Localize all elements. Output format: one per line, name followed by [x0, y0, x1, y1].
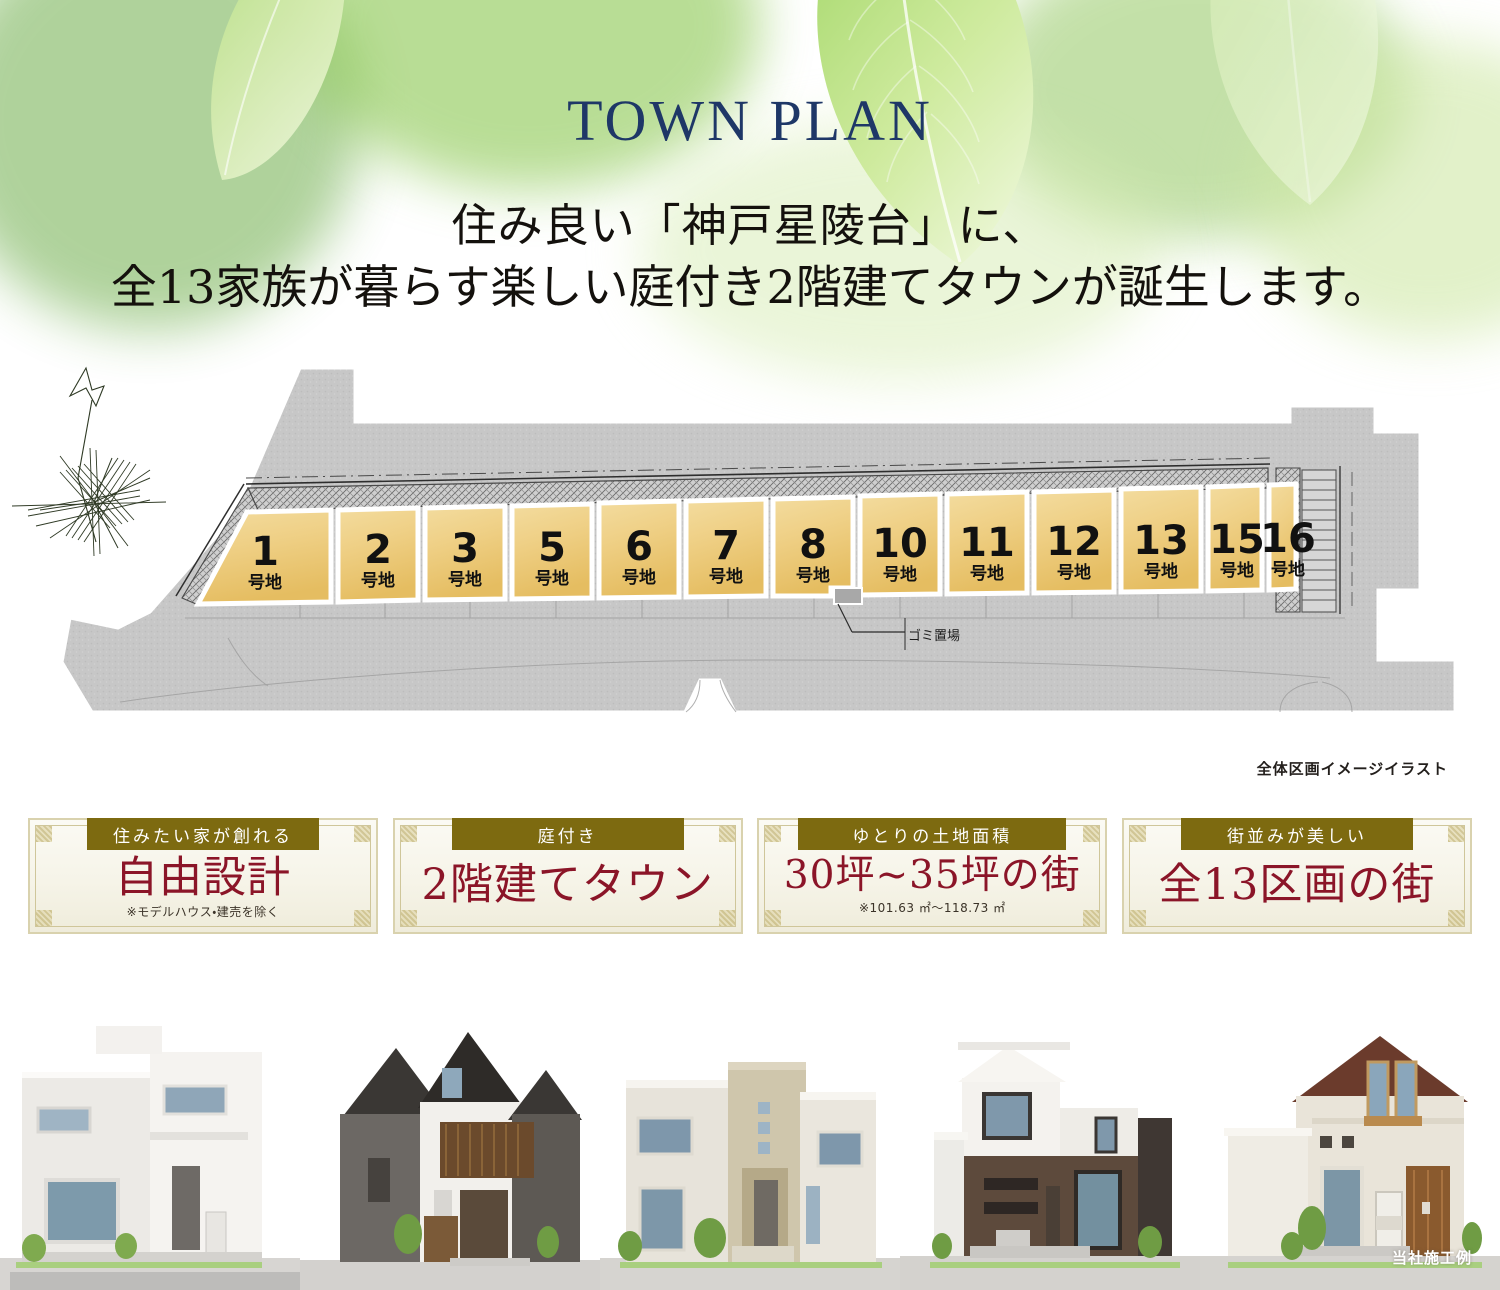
corner-ornament-icon: [36, 910, 52, 926]
badge-ribbon-label: 庭付き: [452, 818, 684, 850]
badge-frame-line: [370, 825, 371, 927]
svg-text:1: 1: [251, 529, 279, 575]
lot-label: 8号地: [796, 522, 830, 586]
corner-ornament-icon: [719, 826, 735, 842]
corner-ornament-icon: [1448, 910, 1464, 926]
svg-text:10: 10: [872, 521, 928, 567]
page-title: TOWN PLAN: [0, 92, 1500, 150]
headline: 住み良い「神戸星陵台」に、 全13家族が暮らす楽しい庭付き2階建てタウンが誕生し…: [0, 196, 1500, 320]
svg-text:号地: 号地: [535, 568, 569, 589]
corner-ornament-icon: [1448, 826, 1464, 842]
headline-line-2: 全13家族が暮らす楽しい庭付き2階建てタウンが誕生します。: [0, 256, 1500, 319]
svg-text:7: 7: [712, 523, 740, 569]
svg-text:号地: 号地: [709, 566, 743, 587]
page-title-wrap: TOWN PLAN: [0, 92, 1500, 150]
corner-ornament-icon: [1130, 910, 1146, 926]
garbage-area-marker: [834, 588, 862, 604]
badge-note-label: ※101.63 ㎡〜118.73 ㎡: [859, 899, 1006, 916]
house-photo[interactable]: [300, 960, 600, 1290]
badge-note-label: ※モデルハウス・建売を除く: [127, 903, 280, 920]
site-plan-caption: 全体区画イメージイラスト: [1257, 758, 1448, 779]
svg-text:号地: 号地: [361, 570, 395, 591]
north-arrow-icon: [12, 368, 166, 556]
corner-ornament-icon: [354, 826, 370, 842]
corner-ornament-icon: [765, 910, 781, 926]
svg-text:号地: 号地: [448, 569, 482, 590]
photo-strip-caption: 当社施工例: [1392, 1247, 1472, 1268]
badge-main-label: 全13区画の街: [1159, 863, 1436, 908]
feature-badge-free-design[interactable]: 住みたい家が創れる 自由設計 ※モデルハウス・建売を除く: [28, 818, 378, 934]
lot-label: 2号地: [361, 527, 395, 591]
svg-text:8: 8: [799, 522, 827, 568]
badge-ribbon-label: 住みたい家が創れる: [87, 818, 319, 850]
badge-frame-line: [735, 825, 736, 927]
lot-label: 7号地: [709, 523, 743, 587]
corner-ornament-icon: [765, 826, 781, 842]
corner-ornament-icon: [36, 826, 52, 842]
svg-text:3: 3: [451, 526, 479, 572]
badge-ribbon-label: 街並みが美しい: [1181, 818, 1413, 850]
svg-text:6: 6: [625, 524, 653, 570]
house-photo[interactable]: [0, 960, 300, 1290]
town-plan-page: TOWN PLAN 住み良い「神戸星陵台」に、 全13家族が暮らす楽しい庭付き2…: [0, 0, 1500, 1290]
corner-ornament-icon: [401, 826, 417, 842]
feature-badge-land-area[interactable]: ゆとりの土地面積 30坪~35坪の街 ※101.63 ㎡〜118.73 ㎡: [757, 818, 1107, 934]
svg-text:号地: 号地: [622, 567, 656, 588]
garbage-area-label: ゴミ置場: [908, 628, 960, 644]
svg-text:号地: 号地: [796, 565, 830, 586]
feature-badge-13-lots[interactable]: 街並みが美しい 全13区画の街: [1122, 818, 1472, 934]
svg-text:号地: 号地: [883, 564, 917, 585]
corner-ornament-icon: [1083, 826, 1099, 842]
badge-frame-line: [1099, 825, 1100, 927]
corner-ornament-icon: [1083, 910, 1099, 926]
lot-label: 6号地: [622, 524, 656, 588]
svg-text:号地: 号地: [1144, 561, 1178, 582]
house-photo-strip: 当社施工例: [0, 960, 1500, 1290]
badge-main-label: 30坪~35坪の街: [784, 856, 1081, 897]
house-photo[interactable]: [1200, 960, 1500, 1290]
svg-text:16: 16: [1260, 516, 1316, 562]
feature-badge-two-story-town[interactable]: 庭付き 2階建てタウン: [393, 818, 743, 934]
svg-text:12: 12: [1046, 519, 1102, 565]
svg-text:13: 13: [1133, 518, 1189, 564]
lot-label: 1号地: [248, 529, 282, 593]
svg-text:11: 11: [959, 520, 1015, 566]
badge-frame-line: [1464, 825, 1465, 927]
lot-label: 5号地: [535, 525, 569, 589]
corner-ornament-icon: [354, 910, 370, 926]
svg-text:15: 15: [1209, 517, 1265, 563]
svg-text:2: 2: [364, 527, 392, 573]
corner-ornament-icon: [719, 910, 735, 926]
feature-badge-row: 住みたい家が創れる 自由設計 ※モデルハウス・建売を除く 庭付き 2階建てタウン…: [0, 818, 1500, 943]
badge-main-label: 自由設計: [115, 856, 291, 901]
badge-ribbon-label: ゆとりの土地面積: [798, 818, 1066, 850]
svg-text:号地: 号地: [1220, 560, 1254, 581]
corner-ornament-icon: [401, 910, 417, 926]
corner-ornament-icon: [1130, 826, 1146, 842]
site-plan-map[interactable]: 1号地 2号地 3号地 5号地 6号地 7号地 8号地 10号地 11号地 12…: [0, 360, 1500, 780]
house-photo[interactable]: [600, 960, 900, 1290]
badge-main-label: 2階建てタウン: [421, 863, 713, 908]
headline-line-1: 住み良い「神戸星陵台」に、: [0, 196, 1500, 256]
svg-text:号地: 号地: [970, 563, 1004, 584]
house-photo[interactable]: [900, 960, 1200, 1290]
lot-label: 3号地: [448, 526, 482, 590]
svg-text:号地: 号地: [248, 572, 282, 593]
svg-text:号地: 号地: [1057, 562, 1091, 583]
svg-text:号地: 号地: [1271, 559, 1305, 580]
svg-text:5: 5: [538, 525, 566, 571]
